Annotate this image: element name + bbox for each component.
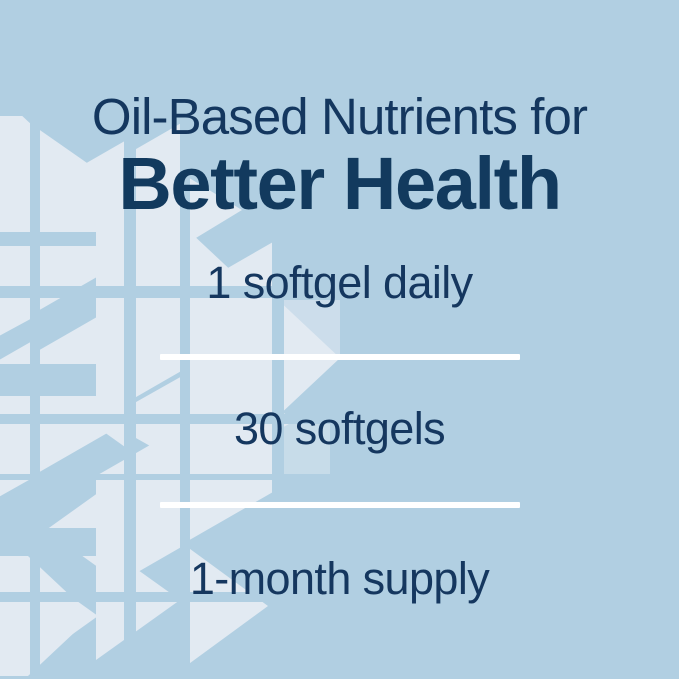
stat-supply: 1-month supply <box>190 552 489 606</box>
headline: Oil-Based Nutrients for Better Health <box>0 88 679 222</box>
divider-rule-1 <box>160 354 520 360</box>
stat-count: 30 softgels <box>234 402 445 456</box>
stats-list: 1 softgel daily 30 softgels 1-month supp… <box>0 250 679 606</box>
divider-rule-2 <box>160 502 520 508</box>
headline-line-1: Oil-Based Nutrients for <box>0 88 679 146</box>
product-feature-card: Oil-Based Nutrients for Better Health 1 … <box>0 0 679 679</box>
content-stack: Oil-Based Nutrients for Better Health 1 … <box>0 0 679 679</box>
headline-line-2: Better Health <box>0 146 679 222</box>
stat-dosage: 1 softgel daily <box>206 256 472 310</box>
